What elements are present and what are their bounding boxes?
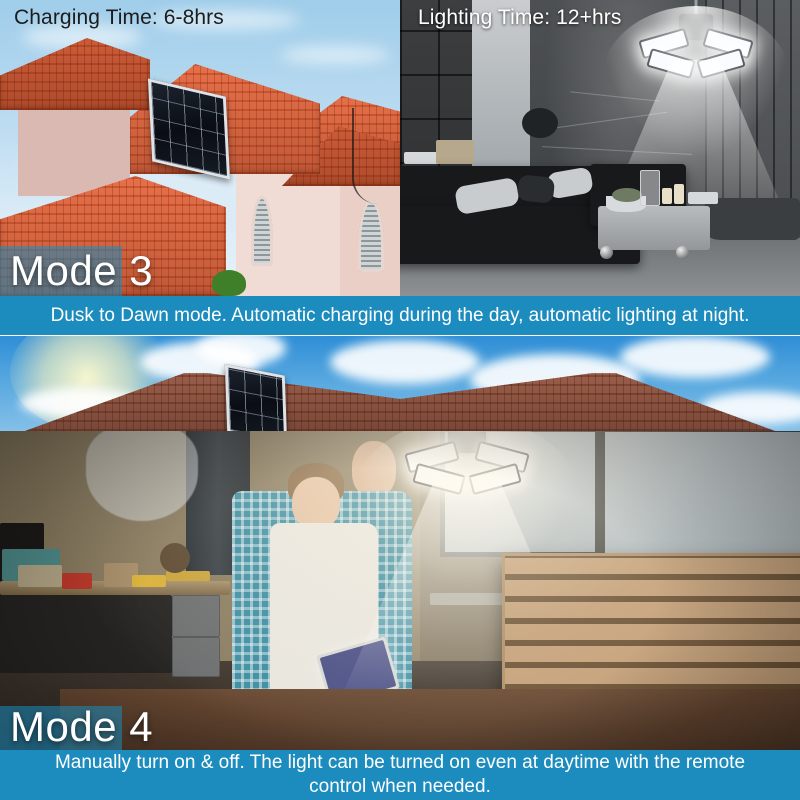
mode4-caption-bar: Manually turn on & off. The light can be… [0,750,800,800]
wooden-crate [502,553,800,709]
drawer [172,595,220,637]
candle [662,188,672,204]
roof-tiles [0,38,150,110]
coffee-table [598,206,710,250]
red-tool [62,573,92,589]
adult-head [352,441,396,497]
clamp [160,543,190,573]
table-caster [600,246,613,259]
wall-crack [570,91,660,101]
books [436,140,474,164]
mode3-caption-text: Dusk to Dawn mode. Automatic charging du… [51,304,750,328]
wall-crack [542,146,692,155]
wall-crack [549,112,668,130]
mode3-caption-bar: Dusk to Dawn mode. Automatic charging du… [0,296,800,335]
light-blade [412,463,465,495]
product-feature-image: Charging Time: 6-8hrs [0,0,800,800]
wood-block [18,565,62,587]
lantern [640,170,660,206]
yellow-tool [132,575,166,587]
plant [612,188,642,202]
workbench-body [0,595,172,673]
light-blade [646,48,695,79]
living-room-scene: Lighting Time: 12+hrs [400,0,800,296]
drawer [172,637,220,677]
cloud-shape [280,46,390,64]
light-blade [468,463,521,495]
mode4-caption-line-1: Manually turn on & off. The light can be… [55,751,745,775]
shrub [212,270,246,296]
cloud-shape [330,340,480,384]
ottoman [700,198,800,240]
child-head [292,477,340,529]
candle [674,184,684,204]
charging-time-label: Charging Time: 6-8hrs [14,6,224,30]
wall-fan [522,108,558,138]
cushion [517,174,556,204]
mode4-caption-line-2: control when needed. [309,775,491,799]
lighting-time-label: Lighting Time: 12+hrs [418,6,621,30]
mode4-tag: Mode 4 [10,706,153,748]
cable [352,108,378,204]
books [688,192,718,204]
mode3-tag: Mode 3 [10,250,153,292]
window [600,431,800,567]
light-blade [696,48,745,79]
cloud-shape [620,336,770,378]
deformable-led-light [636,0,756,86]
table-caster [676,246,689,259]
deformable-led-light [404,431,530,507]
